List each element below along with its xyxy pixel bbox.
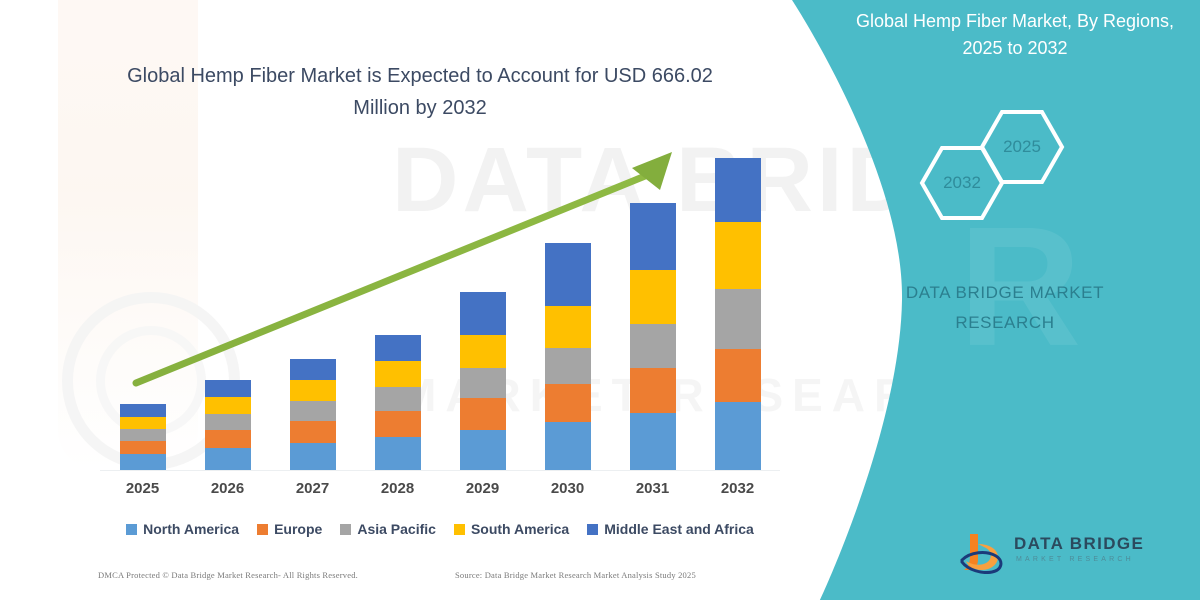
bar-segment bbox=[715, 402, 761, 470]
bar-segment bbox=[205, 448, 251, 470]
panel-brand-line1: DATA BRIDGE MARKET bbox=[830, 278, 1180, 308]
bar-segment bbox=[120, 454, 166, 470]
legend-swatch-icon bbox=[126, 524, 137, 535]
bar-segment bbox=[205, 380, 251, 397]
bar-segment bbox=[205, 397, 251, 414]
chart-baseline bbox=[100, 470, 780, 471]
chart-x-axis-labels: 20252026202720282029203020312032 bbox=[100, 480, 780, 504]
legend-swatch-icon bbox=[454, 524, 465, 535]
company-logo: DATA BRIDGE MARKET RESEARCH bbox=[960, 528, 1190, 578]
bar-segment bbox=[630, 413, 676, 470]
bar-segment bbox=[375, 335, 421, 361]
bar-segment bbox=[545, 422, 591, 470]
bar-segment bbox=[290, 359, 336, 380]
bar-segment bbox=[630, 368, 676, 413]
bar-segment bbox=[375, 361, 421, 387]
hexagon-start-year-label: 2025 bbox=[1003, 137, 1041, 157]
bar-segment bbox=[715, 349, 761, 402]
x-axis-label: 2028 bbox=[358, 480, 438, 497]
bar-segment bbox=[375, 411, 421, 437]
brand-panel: R Global Hemp Fiber Market, By Regions, … bbox=[780, 0, 1200, 600]
bar-segment bbox=[290, 401, 336, 421]
panel-brand-line2: RESEARCH bbox=[830, 308, 1180, 338]
chart-bars bbox=[100, 140, 780, 470]
legend-label: North America bbox=[143, 521, 239, 537]
bar-segment bbox=[375, 437, 421, 470]
legend-label: Europe bbox=[274, 521, 322, 537]
legend-swatch-icon bbox=[587, 524, 598, 535]
bar-segment bbox=[120, 429, 166, 441]
bar-segment bbox=[120, 404, 166, 417]
bar-column bbox=[545, 243, 591, 470]
chart-legend: North AmericaEuropeAsia PacificSouth Ame… bbox=[100, 518, 780, 540]
x-axis-label: 2026 bbox=[188, 480, 268, 497]
logo-tagline: MARKET RESEARCH bbox=[1016, 556, 1134, 563]
bar-segment bbox=[460, 398, 506, 430]
bar-segment bbox=[460, 368, 506, 398]
bar-segment bbox=[290, 380, 336, 401]
x-axis-label: 2032 bbox=[698, 480, 778, 497]
data-bridge-logo-icon bbox=[960, 530, 1006, 574]
bar-column bbox=[290, 359, 336, 470]
legend-item[interactable]: South America bbox=[454, 521, 569, 537]
x-axis-label: 2031 bbox=[613, 480, 693, 497]
bar-segment bbox=[715, 222, 761, 289]
stacked-bar-chart: 20252026202720282029203020312032 bbox=[0, 0, 800, 600]
bar-column bbox=[460, 292, 506, 470]
panel-brand: DATA BRIDGE MARKET RESEARCH bbox=[830, 278, 1180, 338]
infographic-root: DATA BRIDGE MARKET RESEARCH Global Hemp … bbox=[0, 0, 1200, 600]
bar-segment bbox=[290, 421, 336, 443]
bar-column bbox=[205, 380, 251, 470]
legend-label: South America bbox=[471, 521, 569, 537]
bar-segment bbox=[545, 306, 591, 348]
bar-segment bbox=[290, 443, 336, 470]
legend-item[interactable]: Europe bbox=[257, 521, 322, 537]
hexagon-group: 2025 2032 bbox=[900, 108, 1100, 218]
bar-segment bbox=[375, 387, 421, 411]
bar-segment bbox=[630, 324, 676, 368]
hexagon-end-year: 2032 bbox=[918, 144, 1006, 222]
bar-segment bbox=[545, 348, 591, 384]
bar-segment bbox=[460, 335, 506, 368]
panel-title: Global Hemp Fiber Market, By Regions, 20… bbox=[840, 8, 1190, 62]
bar-segment bbox=[120, 441, 166, 454]
legend-label: Asia Pacific bbox=[357, 521, 436, 537]
legend-item[interactable]: Asia Pacific bbox=[340, 521, 436, 537]
bar-segment bbox=[460, 430, 506, 470]
bar-column bbox=[375, 335, 421, 470]
bar-segment bbox=[715, 158, 761, 222]
bar-segment bbox=[120, 417, 166, 429]
legend-swatch-icon bbox=[257, 524, 268, 535]
bar-segment bbox=[545, 384, 591, 422]
bar-column bbox=[630, 203, 676, 470]
legend-item[interactable]: North America bbox=[126, 521, 239, 537]
x-axis-label: 2027 bbox=[273, 480, 353, 497]
bar-segment bbox=[205, 430, 251, 448]
bar-segment bbox=[630, 203, 676, 270]
x-axis-label: 2030 bbox=[528, 480, 608, 497]
bar-column bbox=[715, 158, 761, 470]
x-axis-label: 2025 bbox=[103, 480, 183, 497]
bar-segment bbox=[630, 270, 676, 324]
x-axis-label: 2029 bbox=[443, 480, 523, 497]
footer-copyright: DMCA Protected © Data Bridge Market Rese… bbox=[98, 570, 358, 580]
legend-item[interactable]: Middle East and Africa bbox=[587, 521, 754, 537]
bar-segment bbox=[205, 414, 251, 430]
brand-panel-content: Global Hemp Fiber Market, By Regions, 20… bbox=[780, 0, 1200, 600]
footer-source: Source: Data Bridge Market Research Mark… bbox=[455, 570, 696, 580]
bar-segment bbox=[715, 289, 761, 349]
bar-segment bbox=[460, 292, 506, 335]
bar-segment bbox=[545, 243, 591, 306]
legend-label: Middle East and Africa bbox=[604, 521, 754, 537]
legend-swatch-icon bbox=[340, 524, 351, 535]
hexagon-end-year-label: 2032 bbox=[943, 173, 981, 193]
bar-column bbox=[120, 404, 166, 470]
logo-wordmark: DATA BRIDGE bbox=[1014, 534, 1144, 554]
